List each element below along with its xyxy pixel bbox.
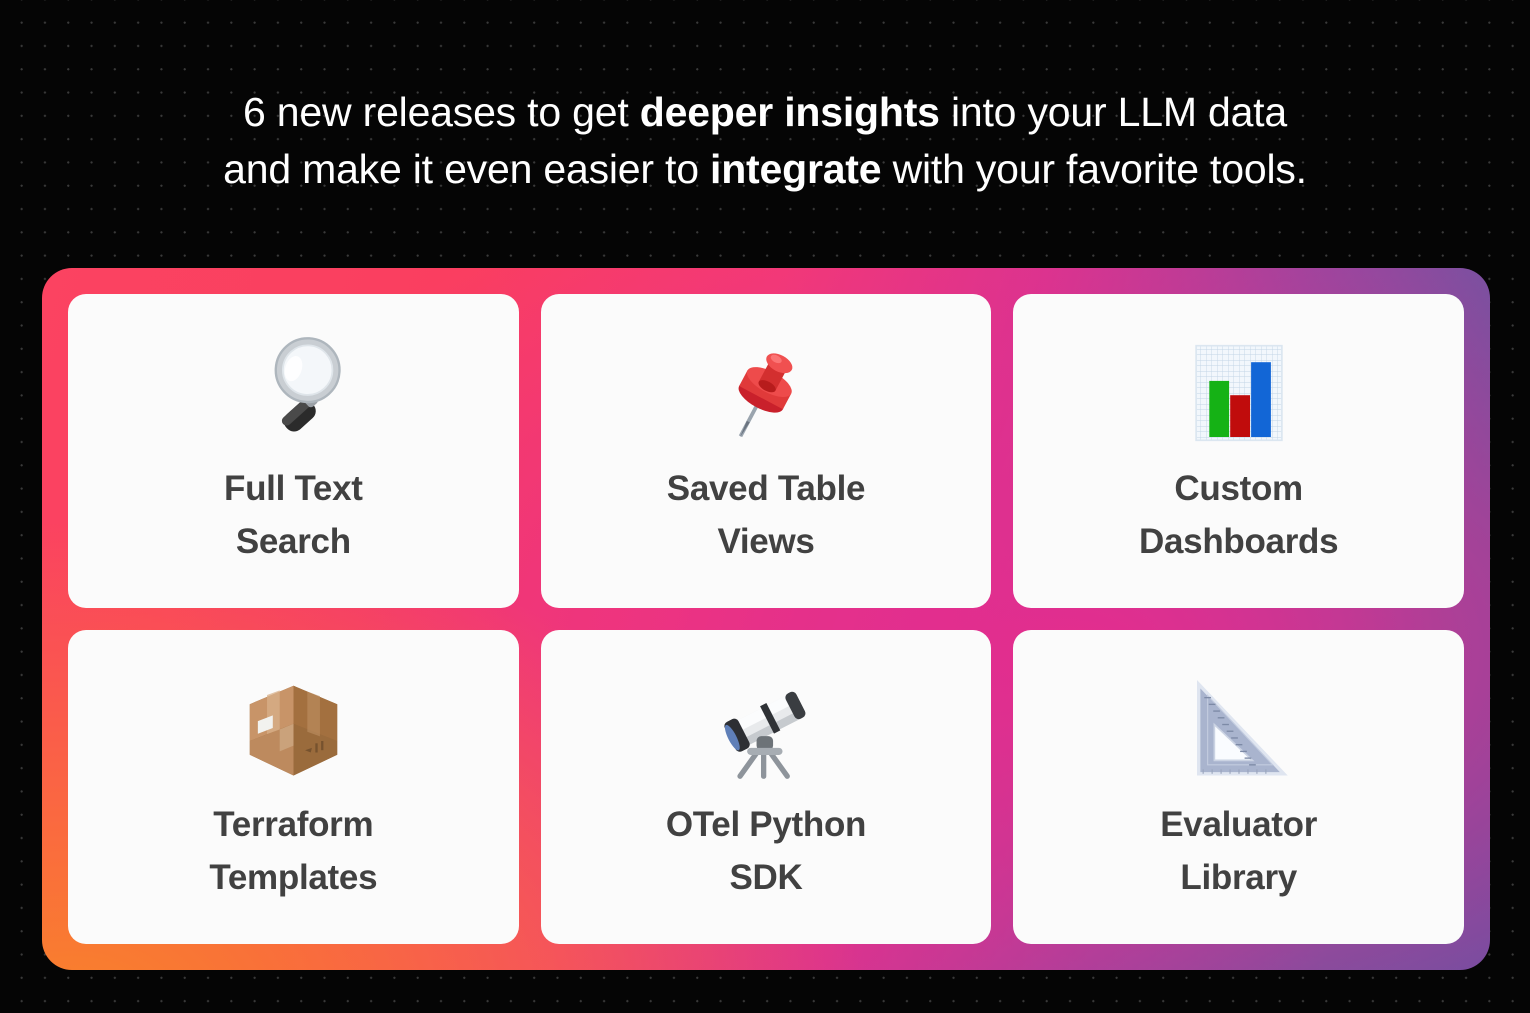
package-box-icon — [236, 664, 351, 794]
headline-line-1: 6 new releases to get deeper insights in… — [0, 84, 1530, 141]
feature-grid-panel: Full Text Search Saved Table Views — [42, 268, 1490, 970]
magnifying-glass-icon — [234, 328, 352, 458]
feature-card-full-text-search[interactable]: Full Text Search — [68, 294, 519, 608]
feature-card-title: Saved Table Views — [667, 462, 865, 568]
pushpin-icon — [707, 328, 825, 458]
feature-card-custom-dashboards[interactable]: Custom Dashboards — [1013, 294, 1464, 608]
feature-card-title: Terraform Templates — [209, 798, 377, 904]
feature-card-otel-python-sdk[interactable]: OTel Python SDK — [541, 630, 992, 944]
triangular-ruler-icon — [1183, 664, 1295, 794]
page-headline: 6 new releases to get deeper insights in… — [0, 84, 1530, 198]
feature-card-evaluator-library[interactable]: Evaluator Library — [1013, 630, 1464, 944]
headline-line1-part2: into your LLM data — [940, 89, 1287, 135]
feature-card-title: Custom Dashboards — [1139, 462, 1338, 568]
headline-line-2: and make it even easier to integrate wit… — [0, 141, 1530, 198]
headline-emphasis-insights: deeper insights — [640, 89, 940, 135]
feature-card-saved-table-views[interactable]: Saved Table Views — [541, 294, 992, 608]
headline-emphasis-integrate: integrate — [710, 146, 881, 192]
feature-card-title: Full Text Search — [224, 462, 363, 568]
bar-chart-icon — [1184, 328, 1294, 458]
feature-card-terraform-templates[interactable]: Terraform Templates — [68, 630, 519, 944]
feature-card-title: OTel Python SDK — [666, 798, 866, 904]
telescope-icon — [707, 664, 825, 794]
headline-line1-part1: 6 new releases to get — [243, 89, 640, 135]
headline-line2-part2: with your favorite tools. — [881, 146, 1306, 192]
feature-card-title: Evaluator Library — [1160, 798, 1317, 904]
headline-line2-part1: and make it even easier to — [223, 146, 710, 192]
